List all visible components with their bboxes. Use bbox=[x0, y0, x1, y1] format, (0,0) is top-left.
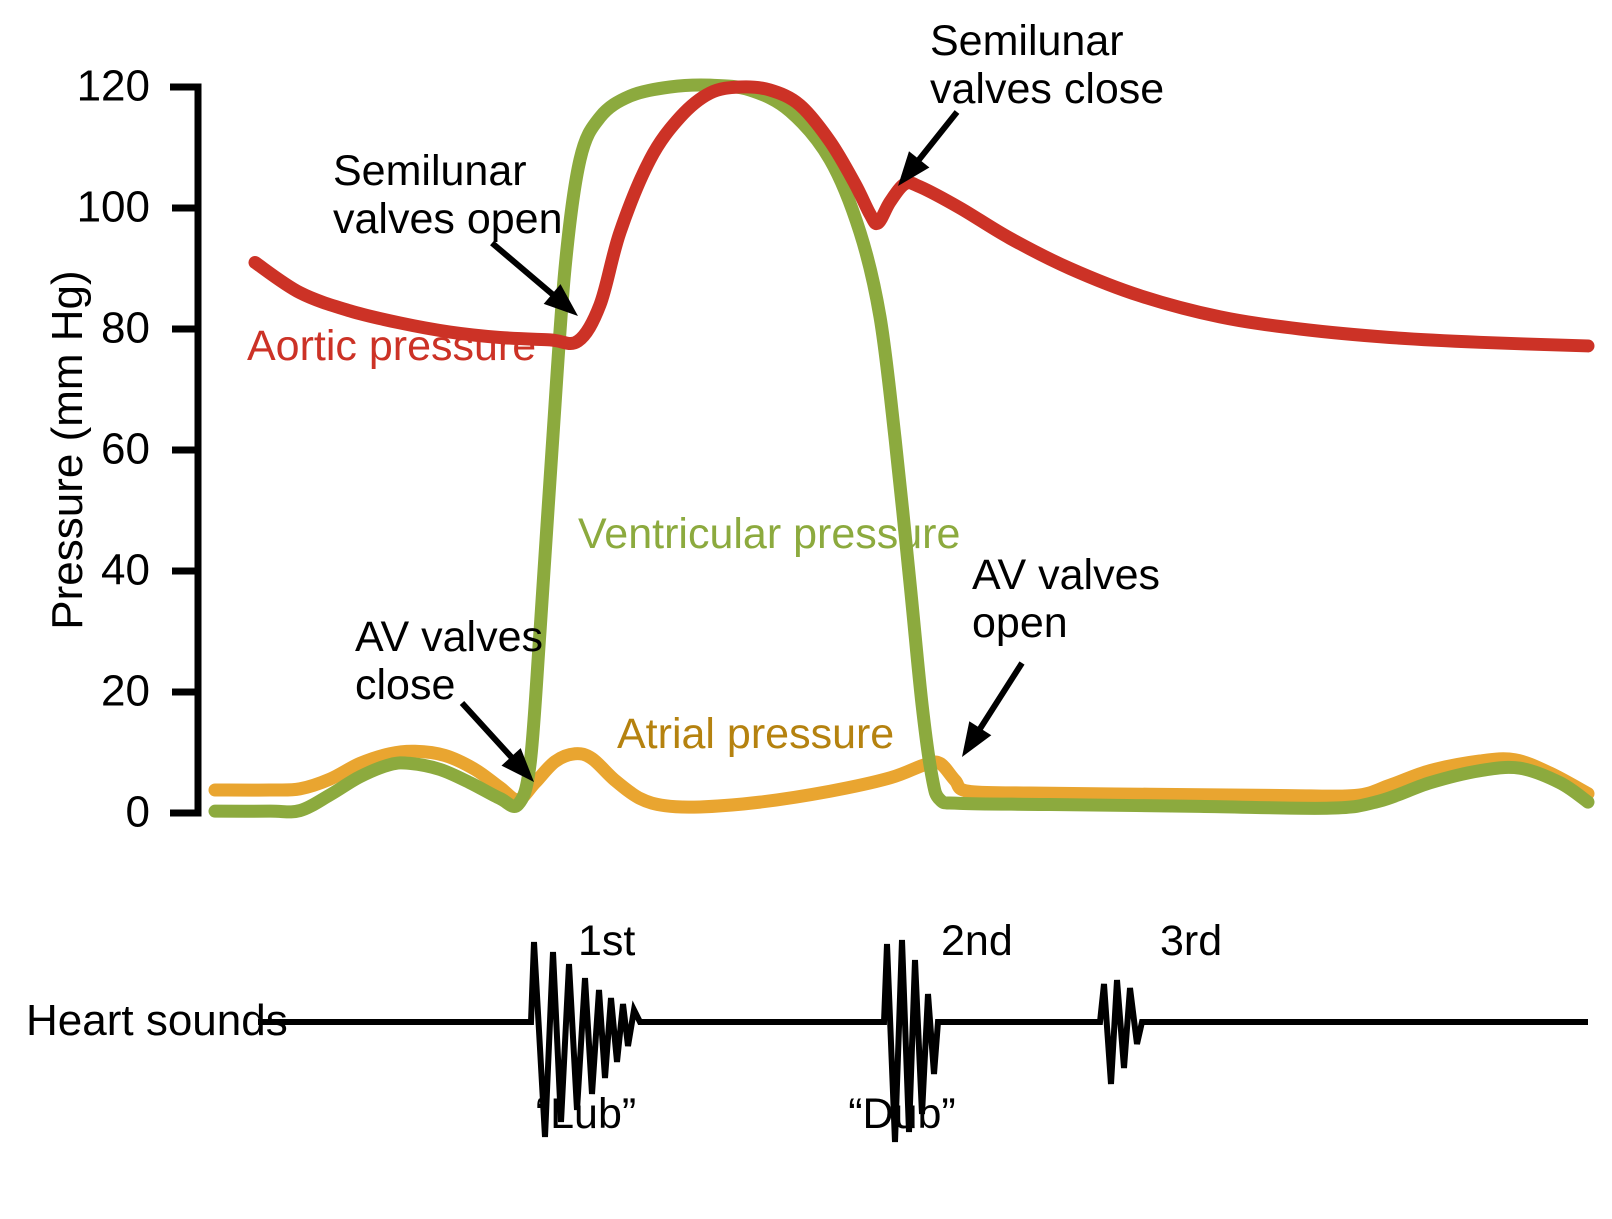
annotation-line: valves close bbox=[930, 65, 1164, 113]
heart-sound-label: 1st bbox=[578, 917, 635, 965]
series-label-aortic-pressure: Aortic pressure bbox=[247, 322, 536, 370]
heart-sound-label: 3rd bbox=[1160, 917, 1222, 965]
cardiac-cycle-figure: 020406080100120 Pressure (mm Hg) Aortic … bbox=[0, 0, 1612, 1219]
pressure-vs-time-chart: 020406080100120 Pressure (mm Hg) Aortic … bbox=[0, 0, 1612, 1219]
annotation-line: AV valves bbox=[355, 613, 543, 661]
heart-sound-onomatopoeia: “Dub” bbox=[848, 1090, 956, 1138]
y-axis-title: Pressure (mm Hg) bbox=[43, 270, 92, 629]
y-tick-label: 0 bbox=[126, 788, 150, 837]
y-tick-label: 20 bbox=[101, 667, 150, 716]
annotation-line: AV valves bbox=[972, 551, 1160, 599]
arrow-head bbox=[962, 721, 991, 757]
annotation-semilunar-valves-close: Semilunarvalves close bbox=[898, 17, 1164, 186]
y-tick-label: 40 bbox=[101, 546, 150, 595]
series-label-ventricular-pressure: Ventricular pressure bbox=[578, 510, 960, 558]
y-tick-label: 120 bbox=[77, 62, 150, 111]
annotation-line: Semilunar bbox=[333, 147, 527, 195]
annotation-line: Semilunar bbox=[930, 17, 1124, 65]
y-tick-label: 60 bbox=[101, 425, 150, 474]
annotation-semilunar-valves-open: Semilunarvalves open bbox=[333, 147, 578, 316]
heart-sound-onomatopoeia: “Lub”“Dub” bbox=[536, 1090, 956, 1138]
series-label-atrial-pressure: Atrial pressure bbox=[617, 710, 894, 758]
valve-annotations: Semilunarvalves openSemilunarvalves clos… bbox=[333, 17, 1164, 782]
y-axis-ticks bbox=[172, 208, 198, 692]
heart-sounds-row-label: Heart sounds bbox=[26, 996, 288, 1045]
heart-sounds-section: Heart sounds 1st2nd3rd “Lub”“Dub” bbox=[26, 917, 1588, 1142]
annotation-line: close bbox=[355, 661, 455, 709]
annotation-line: open bbox=[972, 599, 1068, 647]
annotation-av-valves-open: AV valvesopen bbox=[962, 551, 1160, 757]
series-labels: Aortic pressureVentricular pressureAtria… bbox=[247, 322, 960, 758]
heart-sound-label: 2nd bbox=[941, 917, 1013, 965]
y-tick-label: 100 bbox=[77, 183, 150, 232]
annotation-line: valves open bbox=[333, 195, 563, 243]
y-tick-label: 80 bbox=[101, 304, 150, 353]
heart-sound-onomatopoeia: “Lub” bbox=[536, 1090, 636, 1138]
y-axis-group: 020406080100120 Pressure (mm Hg) bbox=[43, 62, 198, 837]
